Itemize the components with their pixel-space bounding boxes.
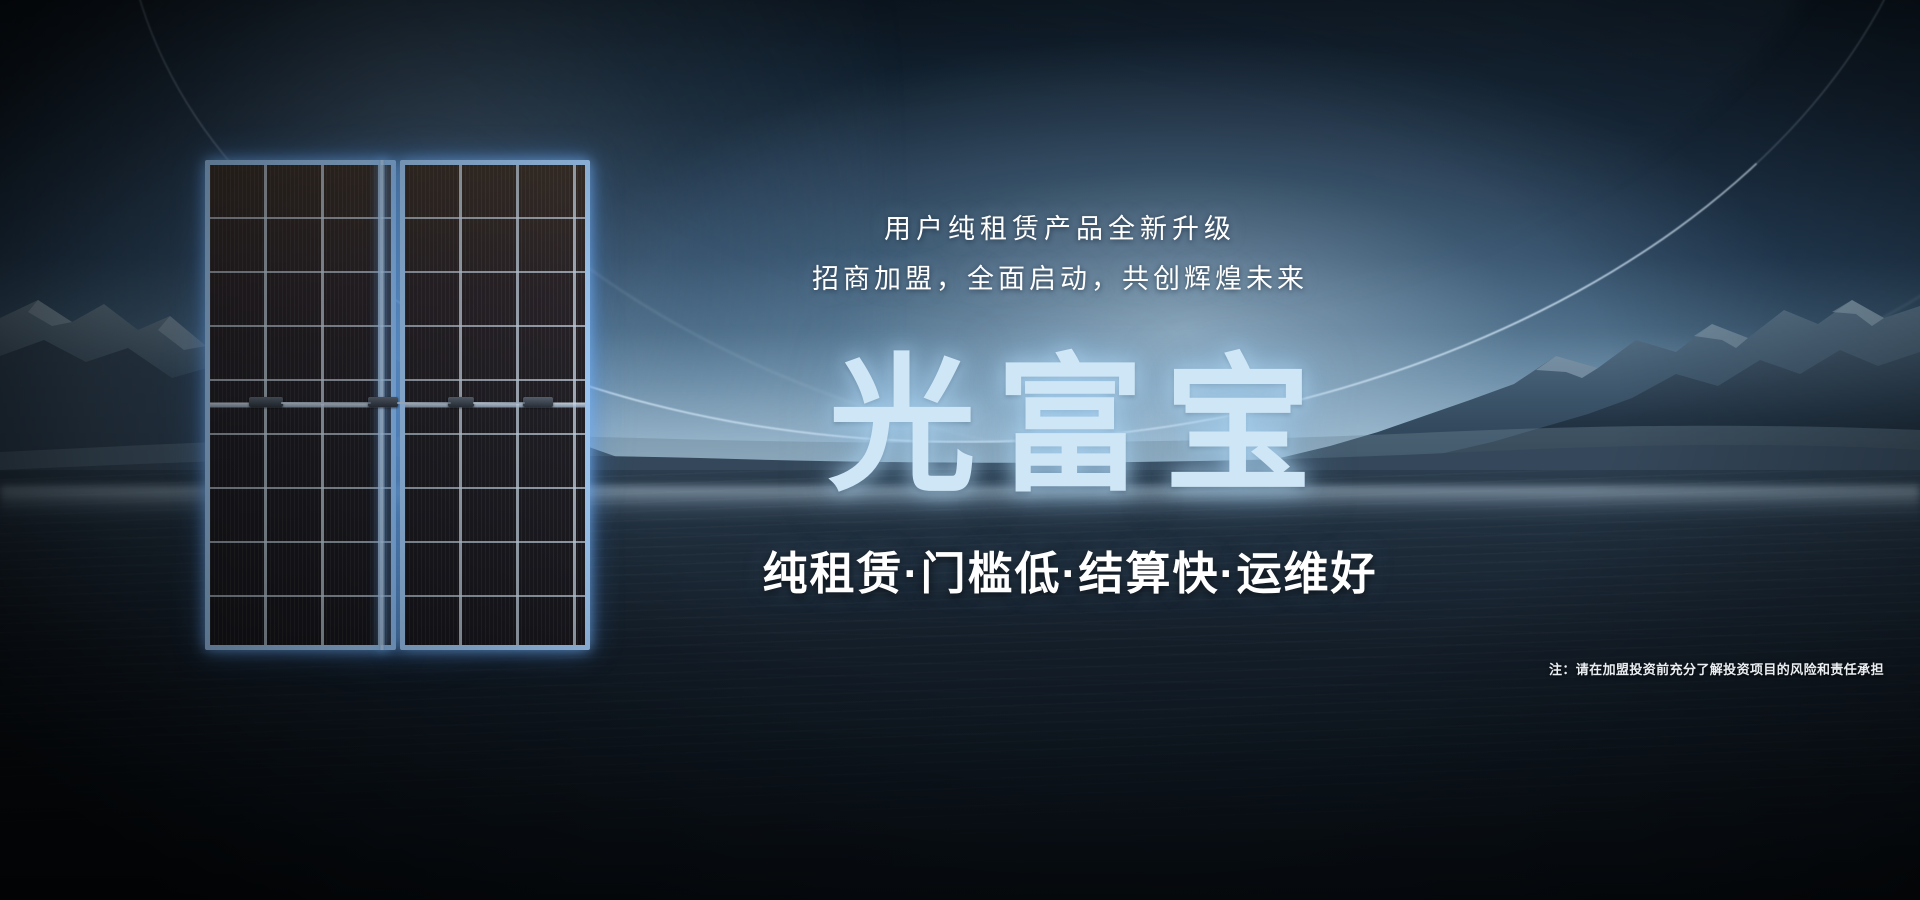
- panel-cable-1: [281, 402, 371, 404]
- disclaimer-text: 注：请在加盟投资前充分了解投资项目的风险和责任承担: [1324, 660, 1884, 680]
- headline-line-1: 用户纯租赁产品全新升级: [760, 204, 1360, 254]
- tagline-text: 纯租赁·门槛低·结算快·运维好: [660, 542, 1480, 606]
- promo-banner: 用户纯租赁产品全新升级 招商加盟，全面启动，共创辉煌未来 光富宝 纯租赁·门槛低…: [0, 0, 1920, 900]
- headline: 用户纯租赁产品全新升级 招商加盟，全面启动，共创辉煌未来: [760, 204, 1360, 304]
- junction-box-2: [368, 397, 398, 407]
- junction-box-3: [448, 397, 474, 407]
- brand-logo-text: 光富宝: [790, 352, 1350, 502]
- panel-cable-2: [397, 402, 451, 404]
- panel-half-right: [400, 160, 591, 650]
- junction-box-4: [523, 397, 553, 407]
- solar-panel-module: [205, 160, 590, 650]
- panel-half-left: [205, 160, 396, 650]
- panel-cable-3: [473, 402, 525, 404]
- junction-box-1: [249, 397, 283, 407]
- headline-line-2: 招商加盟，全面启动，共创辉煌未来: [760, 254, 1360, 304]
- panel-body: [205, 160, 590, 650]
